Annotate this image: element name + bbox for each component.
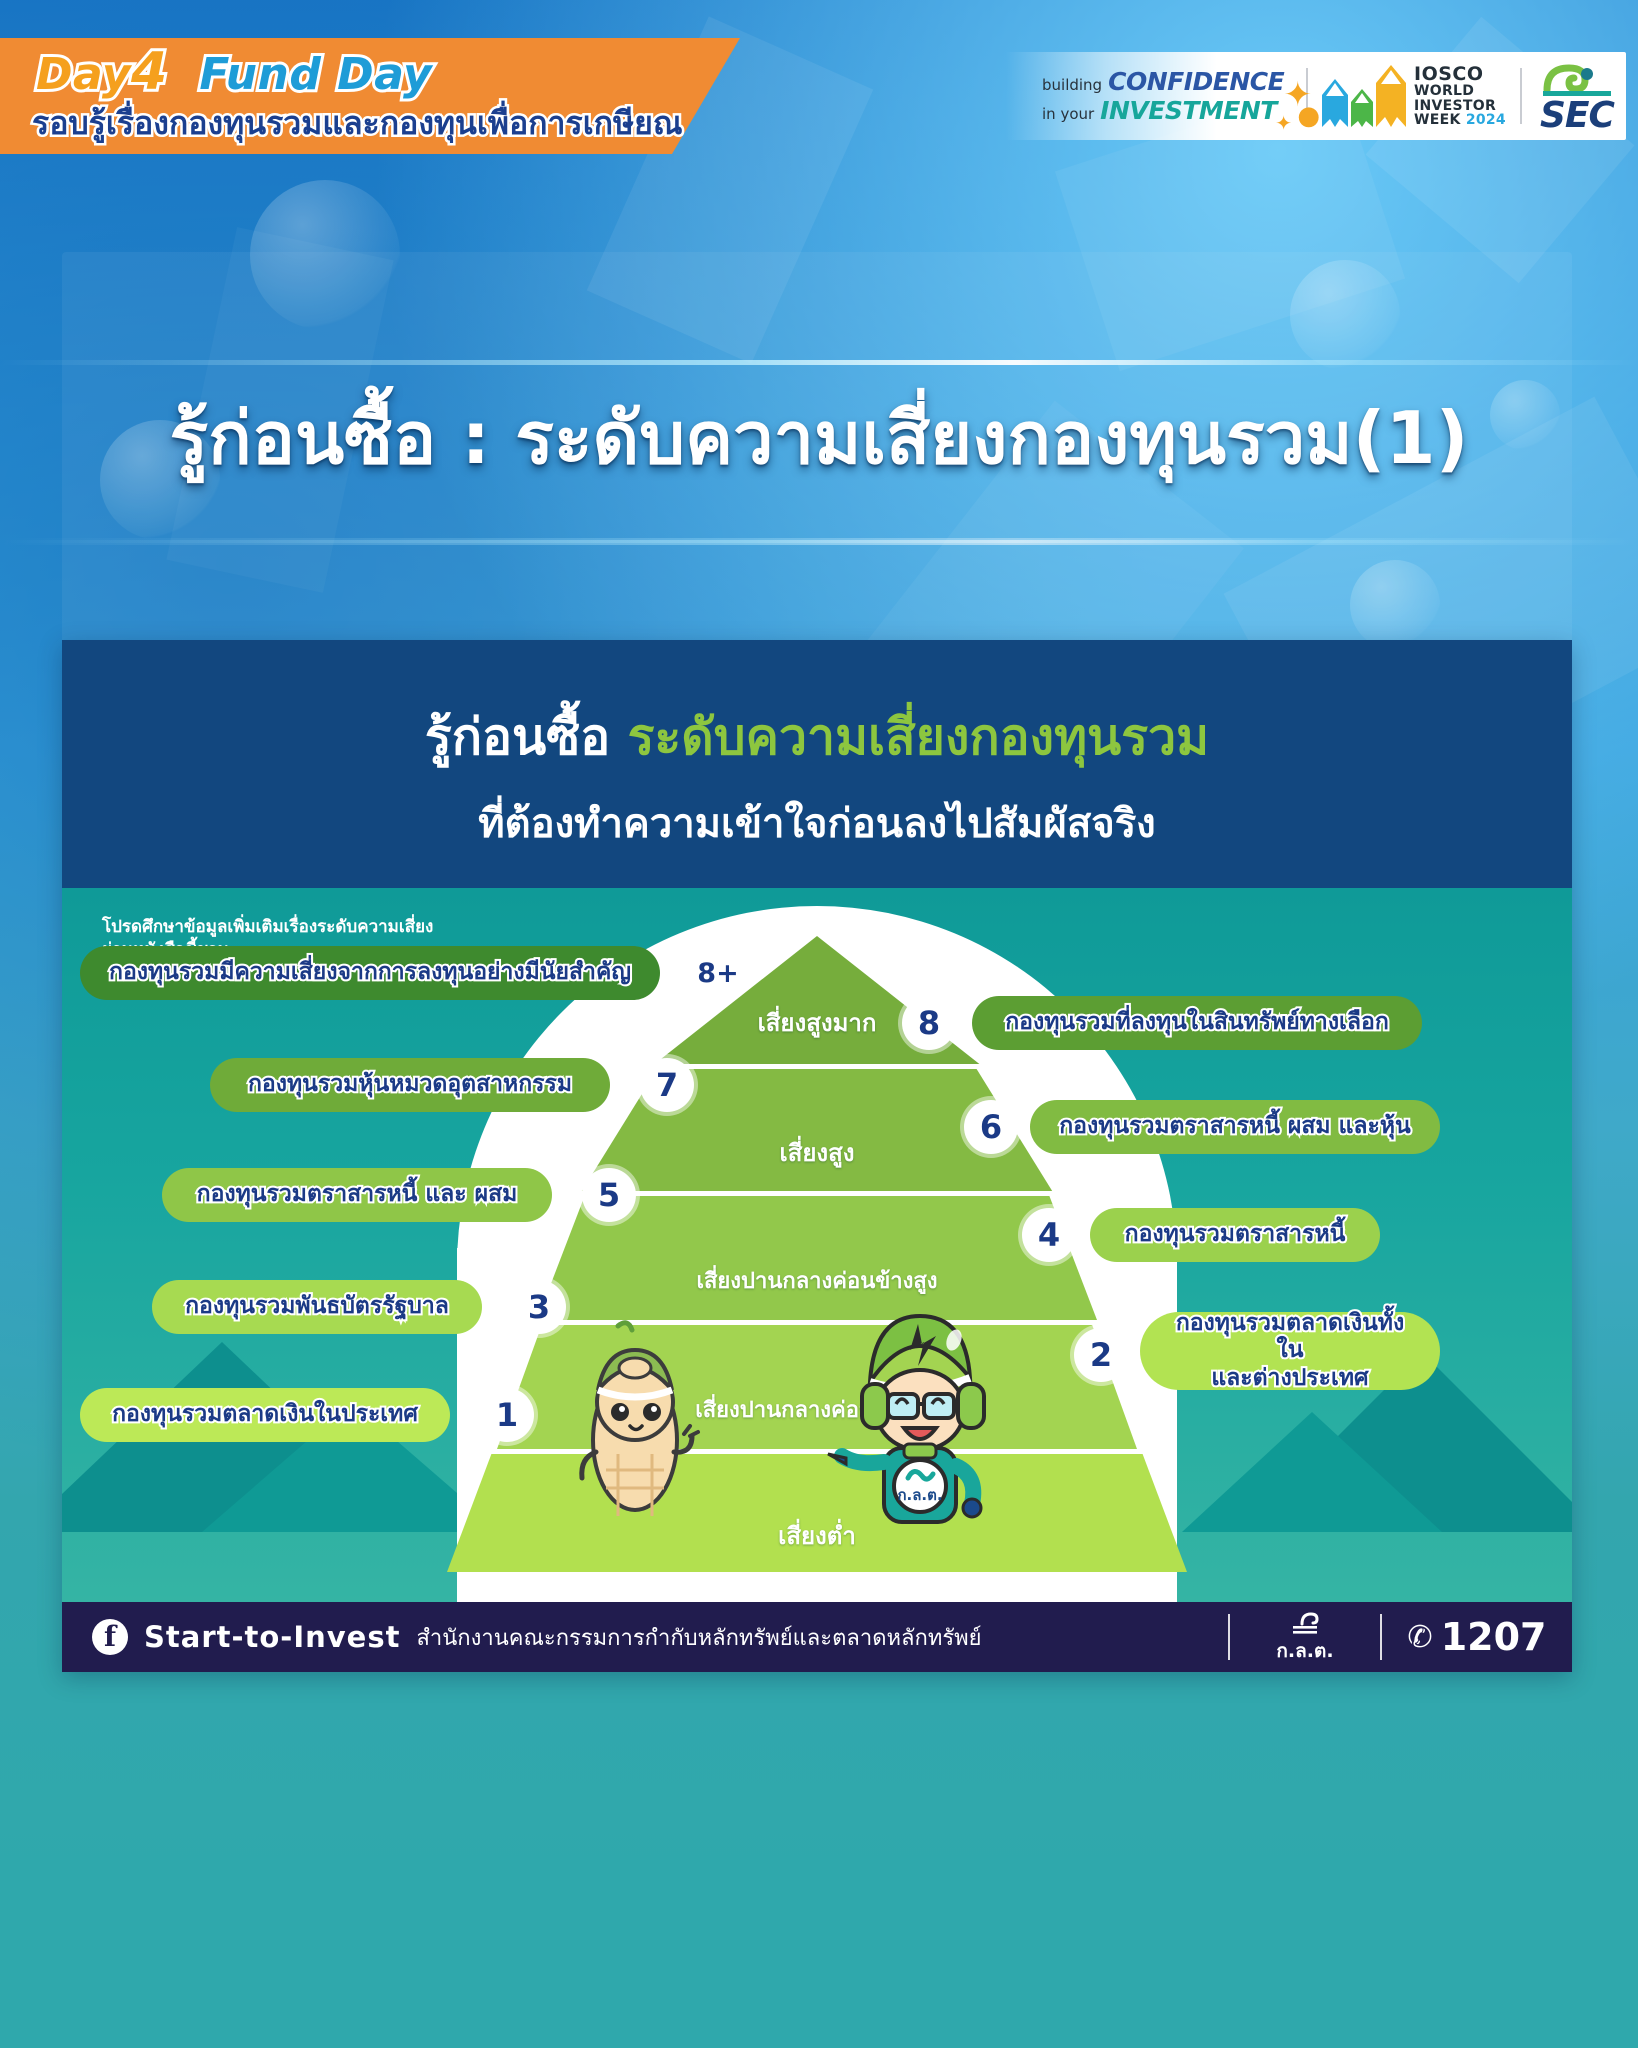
- svg-text:ก.ล.ต.: ก.ล.ต.: [897, 1486, 942, 1504]
- card-header-line1: รู้ก่อนซื้อ ระดับความเสี่ยงกองทุนรวม: [62, 698, 1572, 777]
- klt-abbreviation: ก.ล.ต.: [1230, 1636, 1380, 1666]
- page-title: รู้ก่อนซื้อ : ระดับความเสี่ยงกองทุนรวม(1…: [0, 380, 1638, 495]
- iosco-world-investor-week-logo: IOSCO WORLD INVESTOR WEEK 2024: [1308, 65, 1520, 127]
- risk-level-pill-8plus[interactable]: กองทุนรวมมีความเสี่ยงจากการลงทุนอย่างมีน…: [80, 946, 660, 1000]
- iosco-line3: WEEK 2024: [1414, 113, 1506, 127]
- risk-level-number-1: 1: [480, 1388, 534, 1442]
- ribbon-title: Day4 Fund Day: [36, 42, 432, 102]
- risk-level-label: กองทุนรวมหุ้นหมวดอุตสาหกรรม: [248, 1071, 572, 1099]
- risk-level-label: กองทุนรวมตราสารหนี้: [1125, 1221, 1346, 1249]
- pencil-yellow-icon: [1376, 65, 1406, 127]
- risk-level-number-4: 4: [1022, 1208, 1076, 1262]
- card-footer: f Start-to-Invest สำนักงานคณะกรรมการกำกั…: [62, 1602, 1572, 1672]
- klt-mark-icon: [1288, 1608, 1322, 1634]
- facebook-icon[interactable]: f: [92, 1619, 128, 1655]
- risk-number-text: 8: [918, 1004, 940, 1042]
- card-header-prefix: รู้ก่อนซื้อ: [425, 708, 628, 766]
- decorative-mountain: [1182, 1412, 1442, 1532]
- risk-level-pill-8[interactable]: กองทุนรวมที่ลงทุนในสินทรัพย์ทางเลือก: [972, 996, 1422, 1050]
- ribbon-subtitle: รอบรู้เรื่องกองทุนรวมและกองทุนเพื่อการเก…: [32, 98, 683, 149]
- sec-wordmark: SEC: [1540, 100, 1614, 132]
- risk-level-pill-3[interactable]: กองทุนรวมพันธบัตรรัฐบาล: [152, 1280, 482, 1334]
- footer-left-group: f Start-to-Invest สำนักงานคณะกรรมการกำกั…: [62, 1619, 1228, 1655]
- pyramid-tier-low: เสี่ยงต่ำ: [447, 1454, 1187, 1572]
- confidence-building-text: building: [1042, 76, 1102, 94]
- decorative-light-bar: [0, 360, 1638, 365]
- confidence-word: CONFIDENCE: [1108, 67, 1284, 96]
- risk-level-number-8: 8: [902, 996, 956, 1050]
- pyramid-tier-label: เสี่ยงสูงมาก: [758, 1003, 877, 1042]
- risk-number-text: 3: [528, 1288, 550, 1326]
- card-body: โปรดศึกษาข้อมูลเพิ่มเติมเรื่องระดับความเ…: [62, 888, 1572, 1602]
- risk-level-number-2: 2: [1074, 1328, 1128, 1382]
- infographic-card: รู้ก่อนซื้อ ระดับความเสี่ยงกองทุนรวม ที่…: [62, 640, 1572, 1672]
- confidence-inyour-text: in your: [1042, 105, 1094, 123]
- risk-level-label: กองทุนรวมตลาดเงินทั้งใน และต่างประเทศ: [1166, 1310, 1414, 1393]
- peanut-mascot: [560, 1320, 710, 1530]
- partner-logo-strip: building CONFIDENCE in your INVESTMENT ✦…: [1006, 52, 1626, 140]
- risk-level-pill-2[interactable]: กองทุนรวมตลาดเงินทั้งใน และต่างประเทศ: [1140, 1312, 1440, 1390]
- phone-icon: ✆: [1408, 1620, 1433, 1655]
- iosco-text-block: IOSCO WORLD INVESTOR WEEK 2024: [1414, 65, 1506, 127]
- iosco-week-word: WEEK: [1414, 112, 1461, 128]
- organization-name: สำนักงานคณะกรรมการกำกับหลักทรัพย์และตลาด…: [416, 1620, 981, 1655]
- klt-robot-mascot: ก.ล.ต.: [822, 1286, 1012, 1536]
- iosco-line2: INVESTOR: [1414, 99, 1506, 113]
- sparkle-icon: ✦: [1275, 111, 1292, 135]
- risk-level-label: กองทุนรวมที่ลงทุนในสินทรัพย์ทางเลือก: [1005, 1009, 1389, 1037]
- card-header-subtitle: ที่ต้องทำความเข้าใจก่อนลงไปสัมผัสจริง: [62, 791, 1572, 855]
- wiw-confidence-logo: building CONFIDENCE in your INVESTMENT ✦…: [1006, 67, 1306, 125]
- risk-level-pill-5[interactable]: กองทุนรวมตราสารหนี้ และ ผสม: [162, 1168, 552, 1222]
- ribbon-day-number: 4: [131, 42, 168, 102]
- sec-logo: SEC: [1522, 60, 1624, 132]
- hotline-text: 1207: [1441, 1615, 1547, 1659]
- risk-level-pill-1[interactable]: กองทุนรวมตลาดเงินในประเทศ: [80, 1388, 450, 1442]
- hotline-number[interactable]: ✆ 1207: [1382, 1615, 1572, 1659]
- footer-divider: [1228, 1614, 1230, 1660]
- risk-number-text: 4: [1038, 1216, 1060, 1254]
- risk-number-text: 2: [1090, 1336, 1112, 1374]
- footer-divider: [1380, 1614, 1382, 1660]
- risk-level-label: กองทุนรวมตราสารหนี้ และ ผสม: [197, 1181, 518, 1209]
- pyramid-tier-label: เสี่ยงสูง: [780, 1133, 855, 1172]
- pencil-green-icon: [1351, 89, 1373, 127]
- risk-level-label: กองทุนรวมตราสารหนี้ ผสม และหุ้น: [1059, 1113, 1411, 1141]
- risk-level-number-7: 7: [640, 1058, 694, 1112]
- iosco-line1: WORLD: [1414, 84, 1506, 98]
- note-line-1: โปรดศึกษาข้อมูลเพิ่มเติมเรื่องระดับความเ…: [102, 916, 433, 939]
- risk-level-number-8plus: 8+: [688, 946, 748, 1000]
- sec-thai-logo: ก.ล.ต.: [1230, 1608, 1380, 1666]
- risk-number-text: 5: [598, 1176, 620, 1214]
- risk-level-pill-7[interactable]: กองทุนรวมหุ้นหมวดอุตสาหกรรม: [210, 1058, 610, 1112]
- risk-level-label: กองทุนรวมมีความเสี่ยงจากการลงทุนอย่างมีน…: [109, 959, 631, 987]
- risk-level-number-5: 5: [582, 1168, 636, 1222]
- pencil-icons: [1322, 65, 1406, 127]
- sec-thai-mark-icon: [1230, 1608, 1380, 1636]
- ribbon-event-name: Fund Day: [199, 49, 432, 100]
- decorative-light-bar: [0, 538, 1638, 543]
- card-header-highlight: ระดับความเสี่ยงกองทุนรวม: [628, 708, 1210, 766]
- sparkle-dot-icon: ●: [1297, 101, 1320, 131]
- investment-word: INVESTMENT: [1100, 96, 1277, 125]
- risk-number-text: 1: [496, 1396, 518, 1434]
- facebook-page-name[interactable]: Start-to-Invest: [144, 1620, 400, 1654]
- pencil-blue-icon: [1322, 79, 1348, 127]
- iosco-year: 2024: [1466, 112, 1506, 128]
- risk-level-label: กองทุนรวมตลาดเงินในประเทศ: [112, 1401, 418, 1429]
- ribbon-day-word: Day: [36, 49, 131, 100]
- sec-mark-icon: [1541, 60, 1613, 96]
- risk-level-pill-6[interactable]: กองทุนรวมตราสารหนี้ ผสม และหุ้น: [1030, 1100, 1440, 1154]
- risk-number-text: 7: [656, 1066, 678, 1104]
- risk-level-pill-4[interactable]: กองทุนรวมตราสารหนี้: [1090, 1208, 1380, 1262]
- card-header: รู้ก่อนซื้อ ระดับความเสี่ยงกองทุนรวม ที่…: [62, 640, 1572, 888]
- risk-number-text: 6: [980, 1108, 1002, 1146]
- risk-level-number-6: 6: [964, 1100, 1018, 1154]
- iosco-name: IOSCO: [1414, 65, 1506, 84]
- risk-level-number-3: 3: [512, 1280, 566, 1334]
- risk-number-text: 8+: [697, 958, 738, 989]
- risk-level-label: กองทุนรวมพันธบัตรรัฐบาล: [185, 1293, 449, 1321]
